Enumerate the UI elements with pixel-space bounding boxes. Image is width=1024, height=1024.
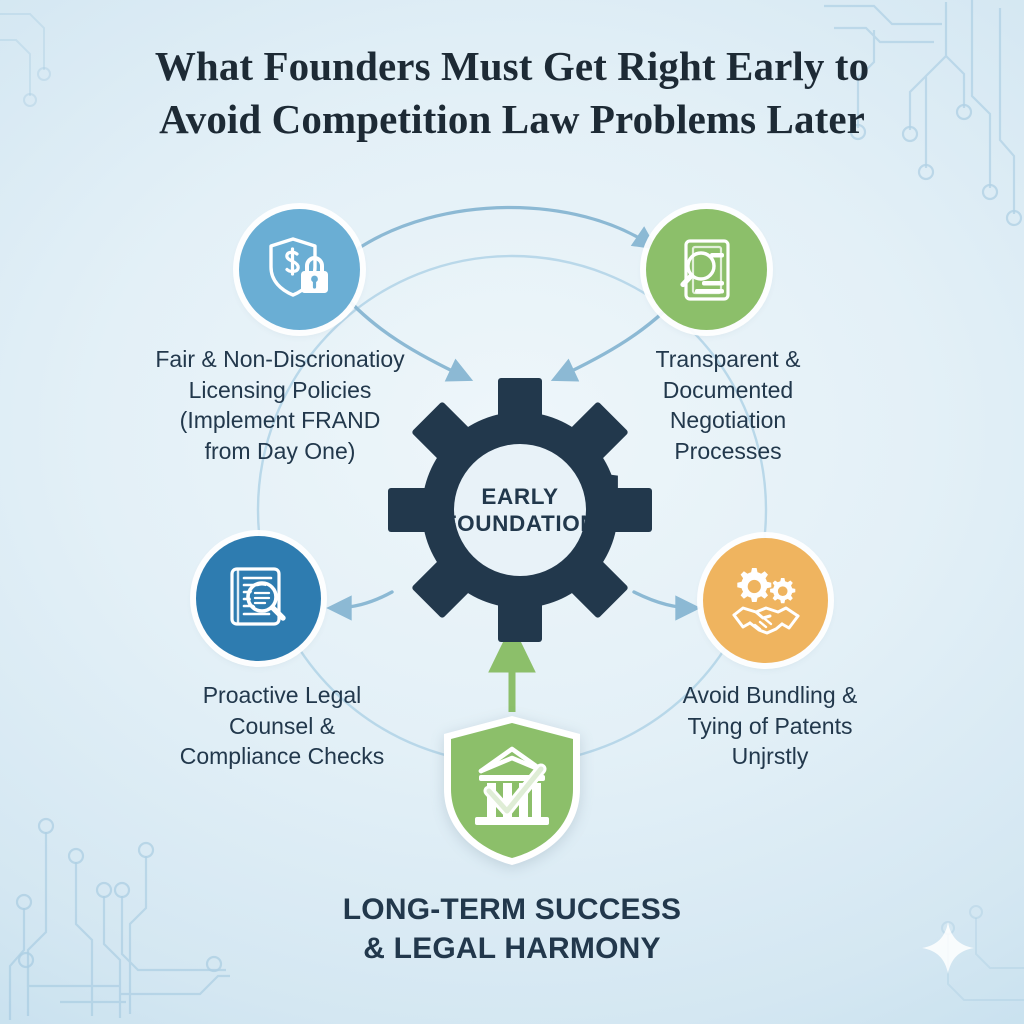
cycle-diagram: EARLY FOUNDATION (0, 0, 1024, 1024)
label-line: Avoid Bundling & (648, 680, 892, 711)
shield-courthouse-check-icon (437, 713, 587, 868)
infographic-canvas: What Founders Must Get Right Early to Av… (0, 0, 1024, 1024)
node-proactive-counsel[interactable] (196, 536, 321, 661)
label-line: Transparent & (608, 344, 848, 375)
node-legal-harmony-shield[interactable] (437, 713, 587, 868)
label-line: Licensing Policies (120, 375, 440, 406)
label-line: Documented (608, 375, 848, 406)
label-line: Proactive Legal (148, 680, 416, 711)
document-review-magnifier-icon (221, 561, 297, 637)
node-transparent-negotiation[interactable] (646, 209, 767, 330)
gears-handshake-icon (726, 563, 806, 639)
label-transparent-negotiation: Transparent & Documented Negotiation Pro… (608, 344, 848, 466)
label-line: from Day One) (120, 436, 440, 467)
label-line: Counsel & (148, 711, 416, 742)
footer-line-1: LONG-TERM SUCCESS (0, 890, 1024, 929)
label-line: Unjrstly (648, 741, 892, 772)
arrow-topleft-to-topright (356, 207, 652, 250)
label-line: Compliance Checks (148, 741, 416, 772)
shield-dollar-lock-icon (263, 233, 337, 307)
document-magnifier-icon (671, 234, 743, 306)
node-avoid-bundling[interactable] (703, 538, 828, 663)
arrow-center-to-bottomleft (333, 592, 392, 608)
label-fair-licensing: Fair & Non-Discrionatioy Licensing Polic… (120, 344, 440, 466)
label-line: Negotiation (608, 405, 848, 436)
center-label-line-2: FOUNDATION (443, 512, 597, 536)
label-line: Processes (608, 436, 848, 467)
label-avoid-bundling: Avoid Bundling & Tying of Patents Unjrst… (648, 680, 892, 772)
label-line: (Implement FRAND (120, 405, 440, 436)
label-line: Tying of Patents (648, 711, 892, 742)
footer-line-2: & LEGAL HARMONY (0, 929, 1024, 968)
node-fair-licensing[interactable] (239, 209, 360, 330)
footer-outcome: LONG-TERM SUCCESS & LEGAL HARMONY (0, 890, 1024, 968)
center-label-line-1: EARLY (481, 485, 558, 509)
label-proactive-counsel: Proactive Legal Counsel & Compliance Che… (148, 680, 416, 772)
label-line: Fair & Non-Discrionatioy (120, 344, 440, 375)
